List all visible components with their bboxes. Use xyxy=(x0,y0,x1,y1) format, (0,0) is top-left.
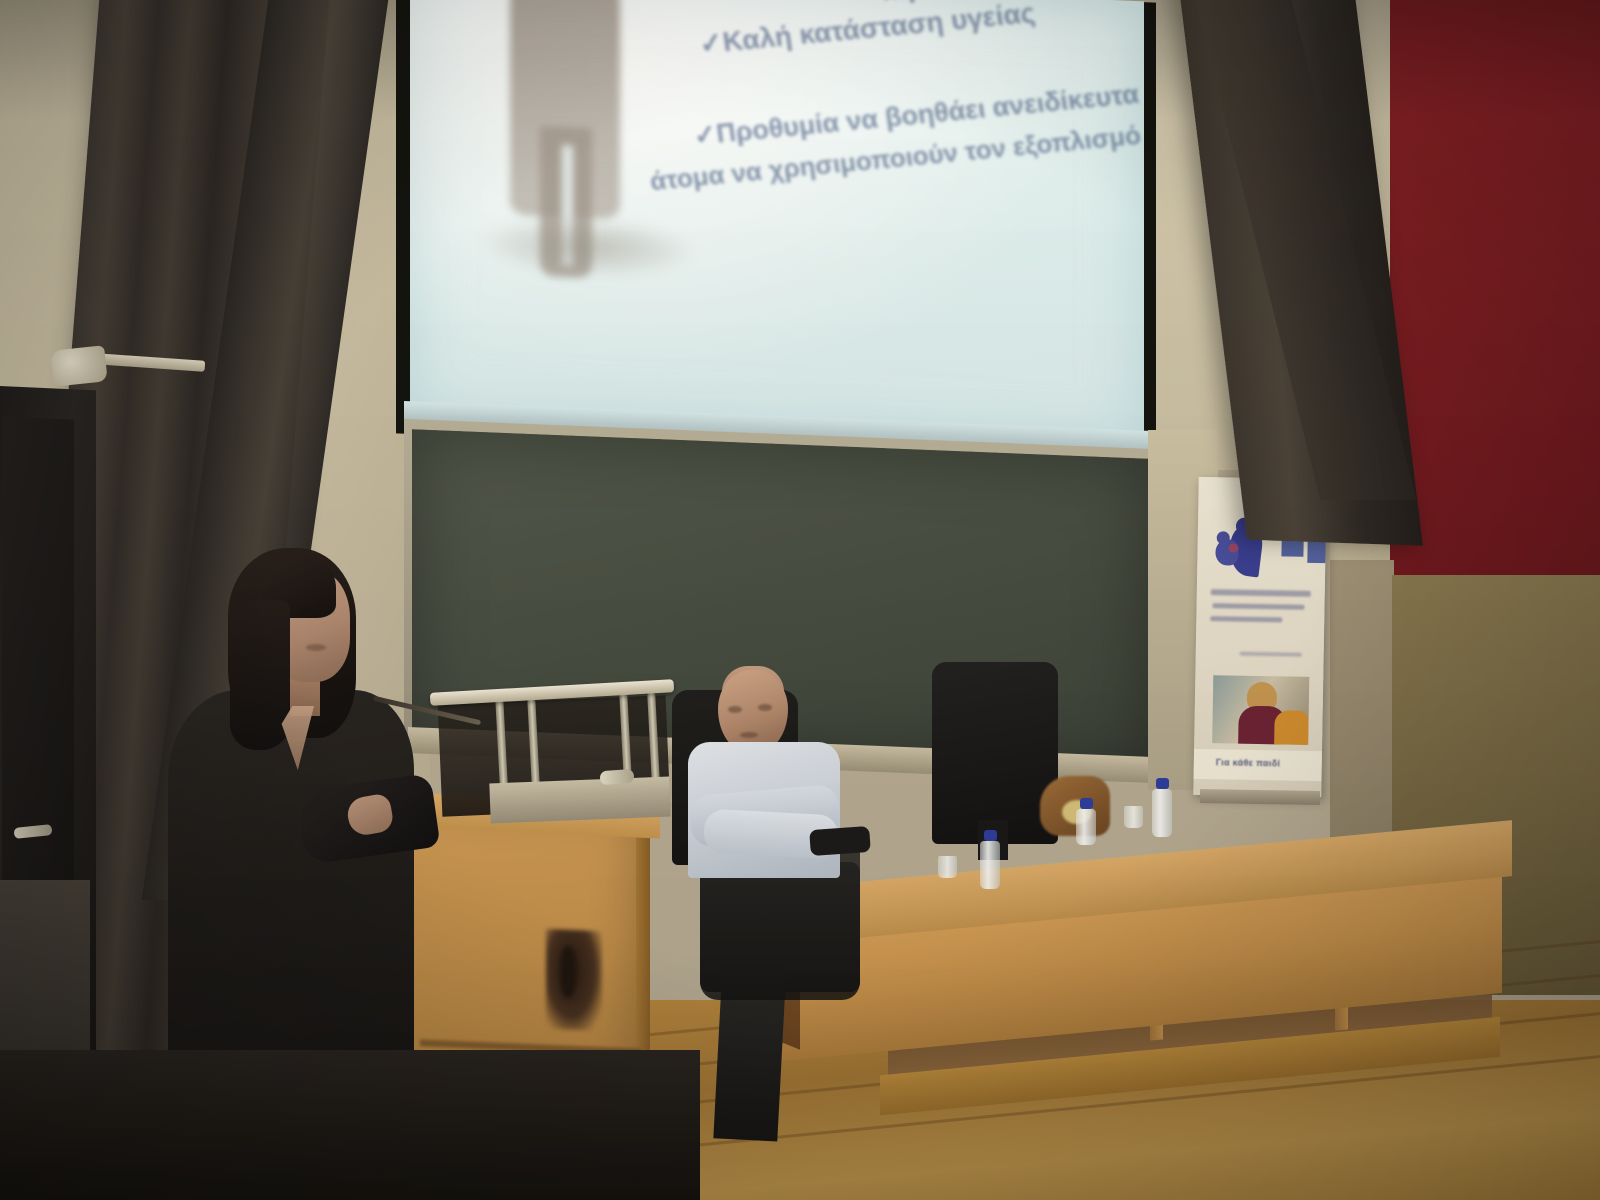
podium-rack-base xyxy=(489,777,670,824)
banner-photo xyxy=(1212,675,1309,745)
banner-heading-line-3 xyxy=(1210,616,1282,622)
banner-stand xyxy=(1200,789,1320,805)
banner-heading-line-1 xyxy=(1211,589,1311,597)
panelist-mouth xyxy=(740,732,758,738)
drinking-glass[interactable] xyxy=(1124,806,1143,828)
light-fixture-icon xyxy=(50,345,107,386)
drinking-glass[interactable] xyxy=(938,856,957,878)
banner-subtext-line xyxy=(1240,652,1302,657)
presenter-mouth xyxy=(306,644,326,651)
banner-heading-line-2 xyxy=(1212,603,1304,610)
podium-emblem-detail xyxy=(560,946,576,998)
panelist-eye-right xyxy=(758,704,772,711)
projection-screen: …ρίων ✓Καλή κατάσταση υγείας ✓Προθυμία ν… xyxy=(410,0,1144,449)
foreground-shadow xyxy=(0,1050,700,1200)
presenter-hair-side xyxy=(230,600,290,750)
water-bottle[interactable] xyxy=(1152,778,1172,837)
lecture-hall-photo: …ρίων ✓Καλή κατάσταση υγείας ✓Προθυμία ν… xyxy=(0,0,1600,1200)
slide-figure-shadow xyxy=(478,211,698,282)
panelist-chair-armrest xyxy=(809,826,871,856)
microphone-icon[interactable] xyxy=(600,769,635,785)
panelist-eye-left xyxy=(728,706,742,713)
banner-caption: Για κάθε παιδί xyxy=(1216,757,1281,768)
water-bottle[interactable] xyxy=(1076,798,1096,845)
water-bottle[interactable] xyxy=(980,830,1000,889)
